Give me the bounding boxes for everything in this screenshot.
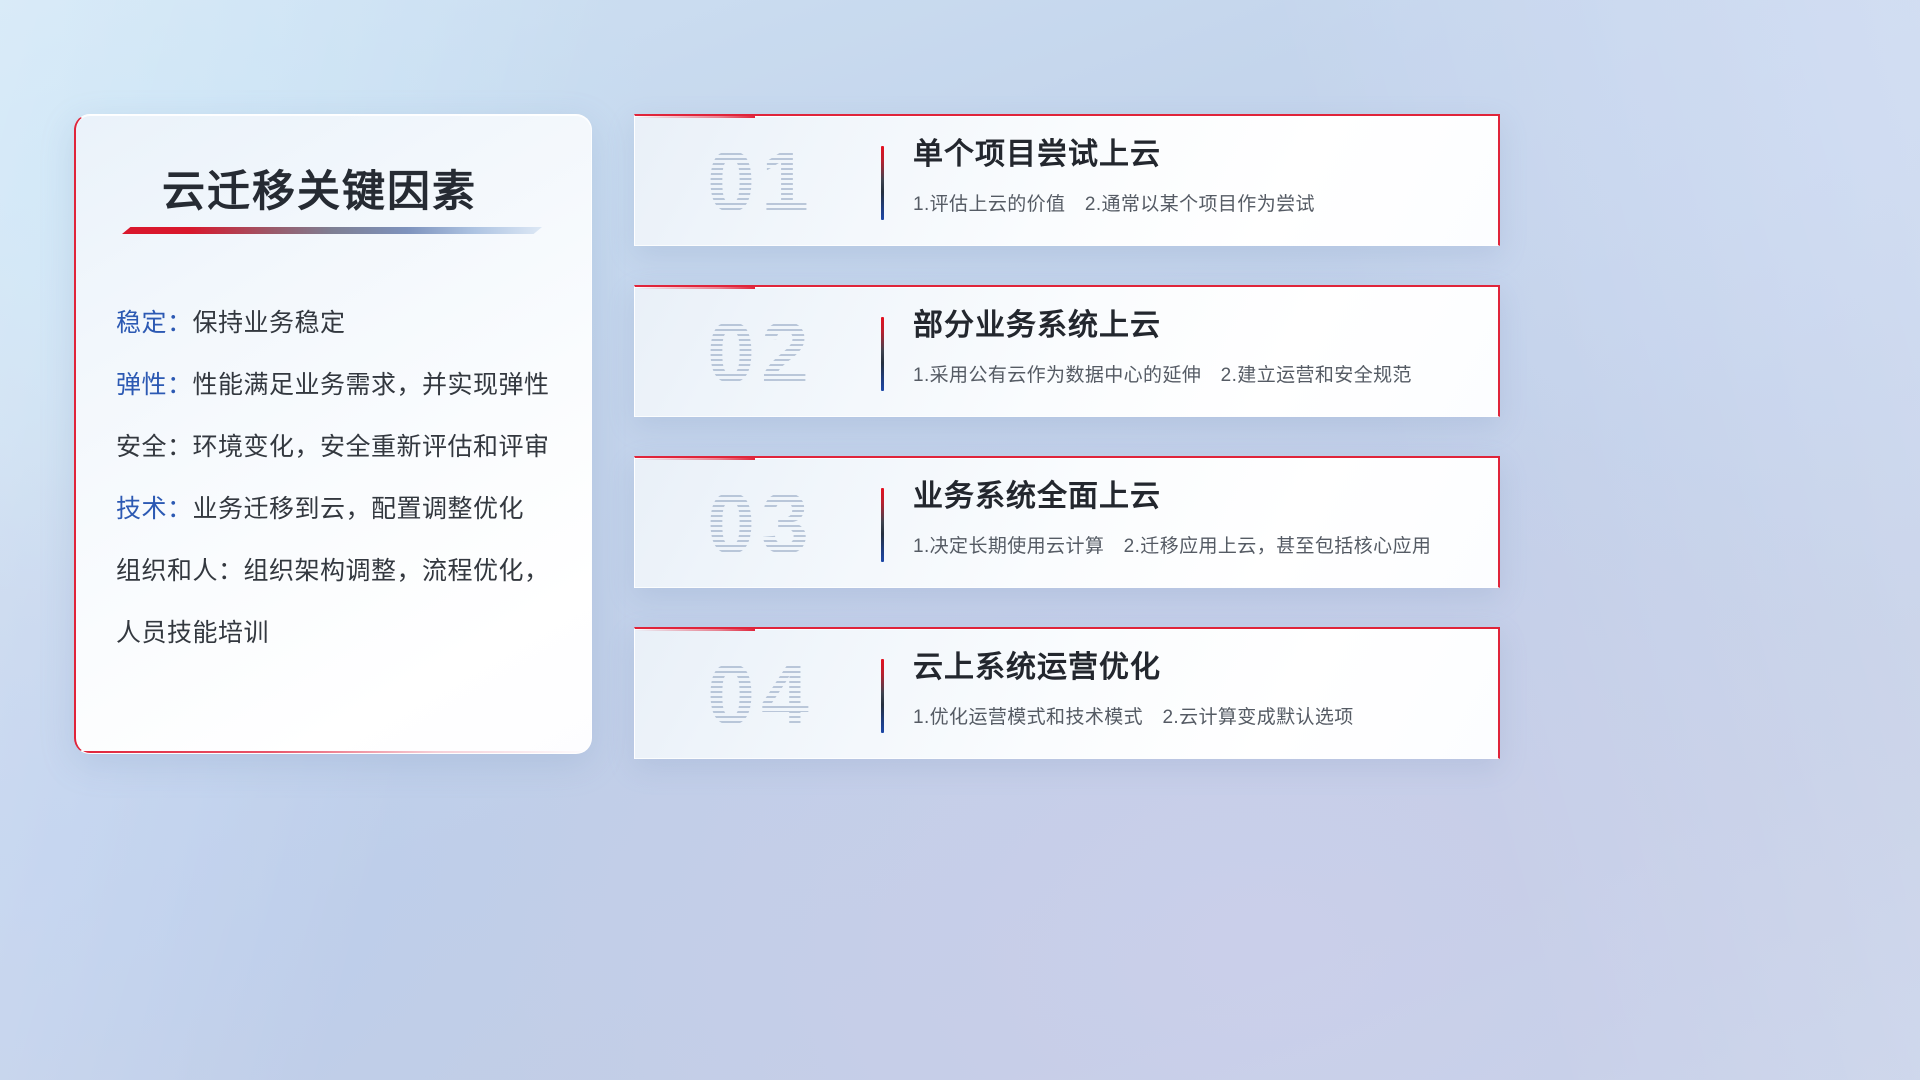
key-factors-card: 云迁移关键因素 稳定：保持业务稳定 弹性：性能满足业务需求，并实现弹性 安全：环… xyxy=(74,114,592,754)
page-title: 云迁移关键因素 xyxy=(162,157,477,219)
step-number-03: 03 xyxy=(661,462,861,586)
title-underline-rule xyxy=(122,227,542,234)
step-divider-bar xyxy=(881,317,884,391)
factor-key: 组织和人： xyxy=(116,557,244,585)
slide-stage: 云迁移关键因素 稳定：保持业务稳定 弹性：性能满足业务需求，并实现弹性 安全：环… xyxy=(0,0,1920,1080)
step-number-01: 01 xyxy=(661,120,861,244)
step-title: 部分业务系统上云 xyxy=(913,309,1474,344)
list-item: 弹性：性能满足业务需求，并实现弹性 xyxy=(116,373,565,398)
step-title: 云上系统运营优化 xyxy=(913,651,1474,686)
list-item: 技术：业务迁移到云，配置调整优化 xyxy=(116,497,565,522)
step-subtitle: 1.采用公有云作为数据中心的延伸 2.建立运营和安全规范 xyxy=(913,360,1474,387)
list-item: 组织和人：组织架构调整，流程优化， xyxy=(116,559,565,584)
step-subtitle: 1.评估上云的价值 2.通常以某个项目作为尝试 xyxy=(913,189,1474,216)
factor-text: 业务迁移到云，配置调整优化 xyxy=(193,495,525,523)
step-card-03[interactable]: 03 业务系统全面上云 1.决定长期使用云计算 2.迁移应用上云，甚至包括核心应… xyxy=(634,456,1500,588)
factor-text: 组织架构调整，流程优化， xyxy=(244,557,550,585)
factor-key: 稳定： xyxy=(116,309,193,337)
step-title: 单个项目尝试上云 xyxy=(913,138,1474,173)
step-subtitle: 1.优化运营模式和技术模式 2.云计算变成默认选项 xyxy=(913,702,1474,729)
step-body: 云上系统运营优化 1.优化运营模式和技术模式 2.云计算变成默认选项 xyxy=(913,651,1474,729)
factor-text: 人员技能培训 xyxy=(116,619,269,647)
factor-text: 保持业务稳定 xyxy=(193,309,346,337)
factor-text: 性能满足业务需求，并实现弹性 xyxy=(193,371,550,399)
step-body: 部分业务系统上云 1.采用公有云作为数据中心的延伸 2.建立运营和安全规范 xyxy=(913,309,1474,387)
factor-key: 弹性： xyxy=(116,371,193,399)
factor-key: 安全： xyxy=(116,433,193,461)
factor-text: 环境变化，安全重新评估和评审 xyxy=(193,433,550,461)
list-item: 人员技能培训 xyxy=(116,621,565,646)
step-divider-bar xyxy=(881,659,884,733)
factor-key: 技术： xyxy=(116,495,193,523)
key-factors-list: 稳定：保持业务稳定 弹性：性能满足业务需求，并实现弹性 安全：环境变化，安全重新… xyxy=(116,311,565,646)
step-number-02: 02 xyxy=(661,291,861,415)
step-card-02[interactable]: 02 部分业务系统上云 1.采用公有云作为数据中心的延伸 2.建立运营和安全规范 xyxy=(634,285,1500,417)
step-body: 单个项目尝试上云 1.评估上云的价值 2.通常以某个项目作为尝试 xyxy=(913,138,1474,216)
step-subtitle: 1.决定长期使用云计算 2.迁移应用上云，甚至包括核心应用 xyxy=(913,531,1474,558)
step-divider-bar xyxy=(881,488,884,562)
step-card-01[interactable]: 01 单个项目尝试上云 1.评估上云的价值 2.通常以某个项目作为尝试 xyxy=(634,114,1500,246)
step-card-04[interactable]: 04 云上系统运营优化 1.优化运营模式和技术模式 2.云计算变成默认选项 xyxy=(634,627,1500,759)
step-divider-bar xyxy=(881,146,884,220)
step-title: 业务系统全面上云 xyxy=(913,480,1474,515)
migration-steps-list: 01 单个项目尝试上云 1.评估上云的价值 2.通常以某个项目作为尝试 02 部… xyxy=(634,114,1500,759)
step-body: 业务系统全面上云 1.决定长期使用云计算 2.迁移应用上云，甚至包括核心应用 xyxy=(913,480,1474,558)
list-item: 稳定：保持业务稳定 xyxy=(116,311,565,336)
step-number-04: 04 xyxy=(661,633,861,757)
list-item: 安全：环境变化，安全重新评估和评审 xyxy=(116,435,565,460)
